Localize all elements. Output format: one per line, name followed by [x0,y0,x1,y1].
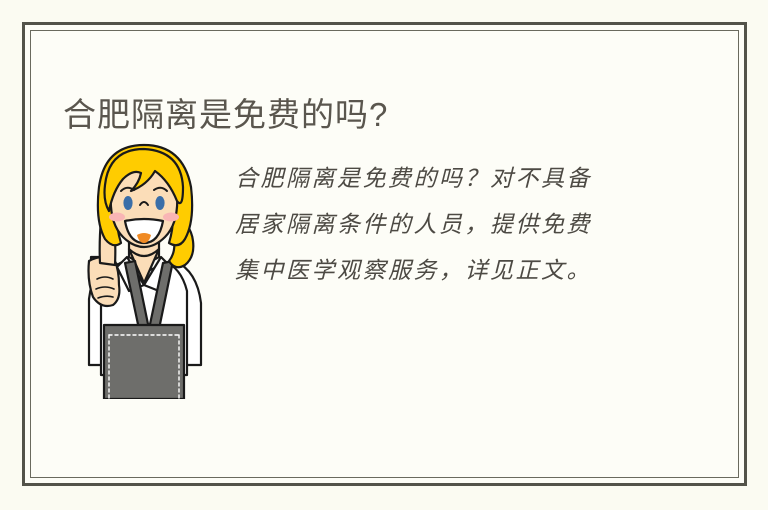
page-title: 合肥隔离是免费的吗? [63,95,388,135]
woman-pointing-up-illustration [69,139,219,399]
body-text: 合肥隔离是免费的吗？对不具备 居家隔离条件的人员，提供免费 集中医学观察服务，详… [235,156,665,294]
info-card: 合肥隔离是免费的吗? [22,22,747,486]
card-inner-frame: 合肥隔离是免费的吗? [30,30,739,478]
body-line: 合肥隔离是免费的吗？对不具备 [235,156,665,202]
body-line: 集中医学观察服务，详见正文。 [235,248,665,294]
body-line: 居家隔离条件的人员，提供免费 [235,202,665,248]
